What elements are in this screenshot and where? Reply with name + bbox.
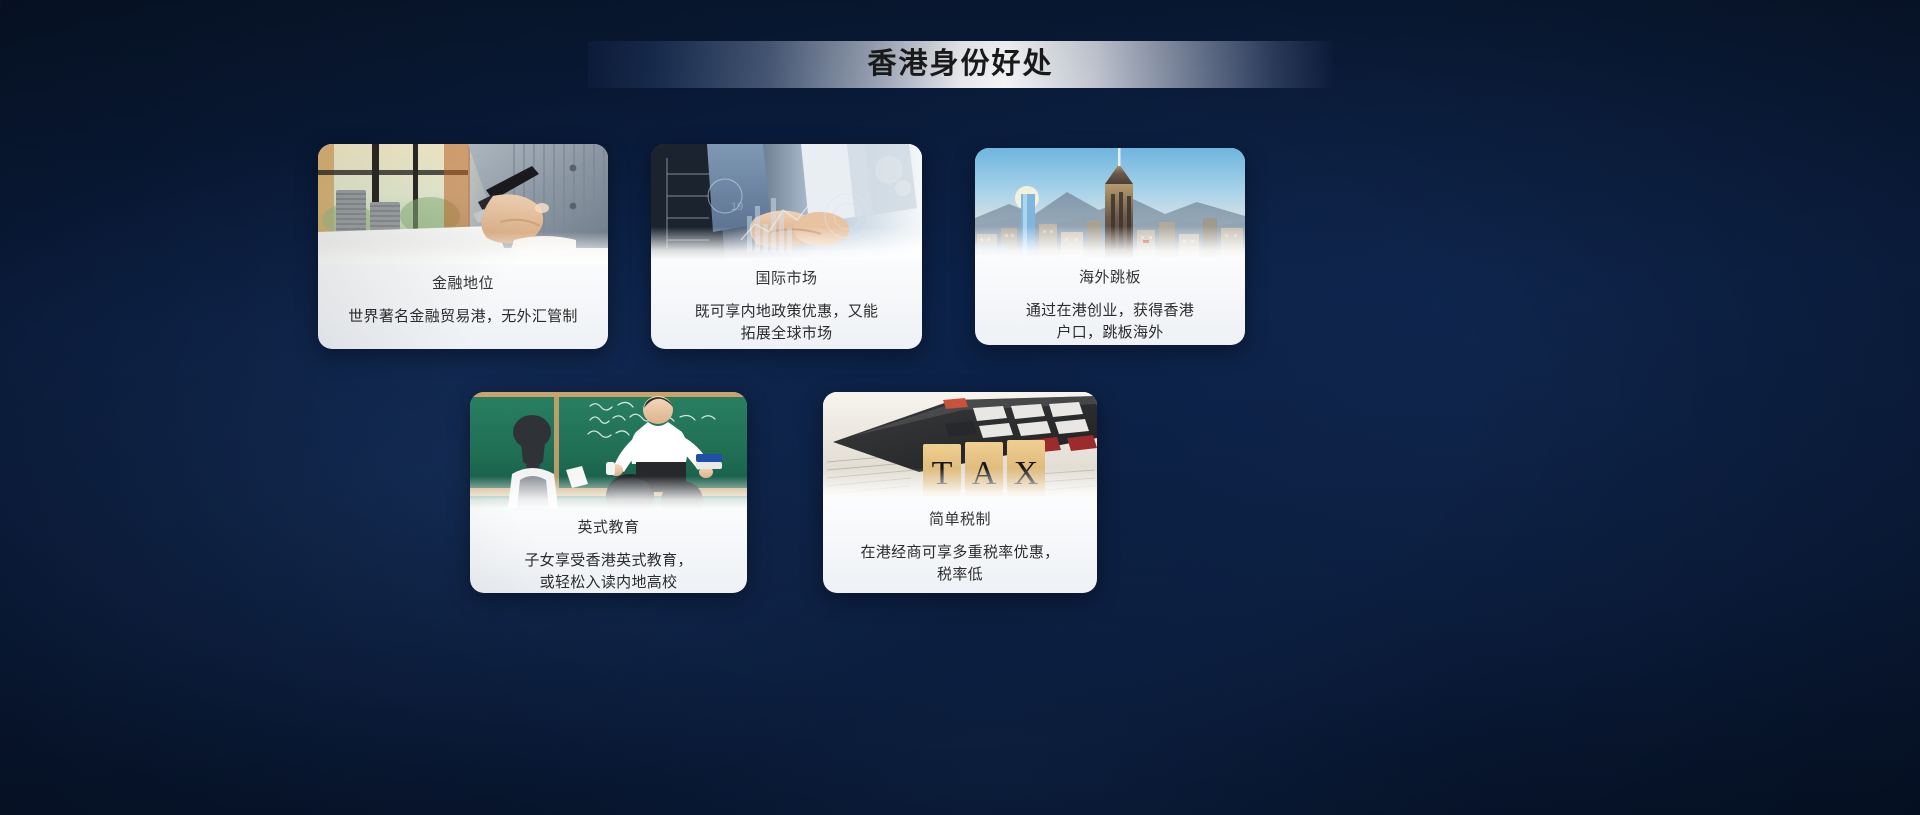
background-vignette [0, 0, 1920, 815]
